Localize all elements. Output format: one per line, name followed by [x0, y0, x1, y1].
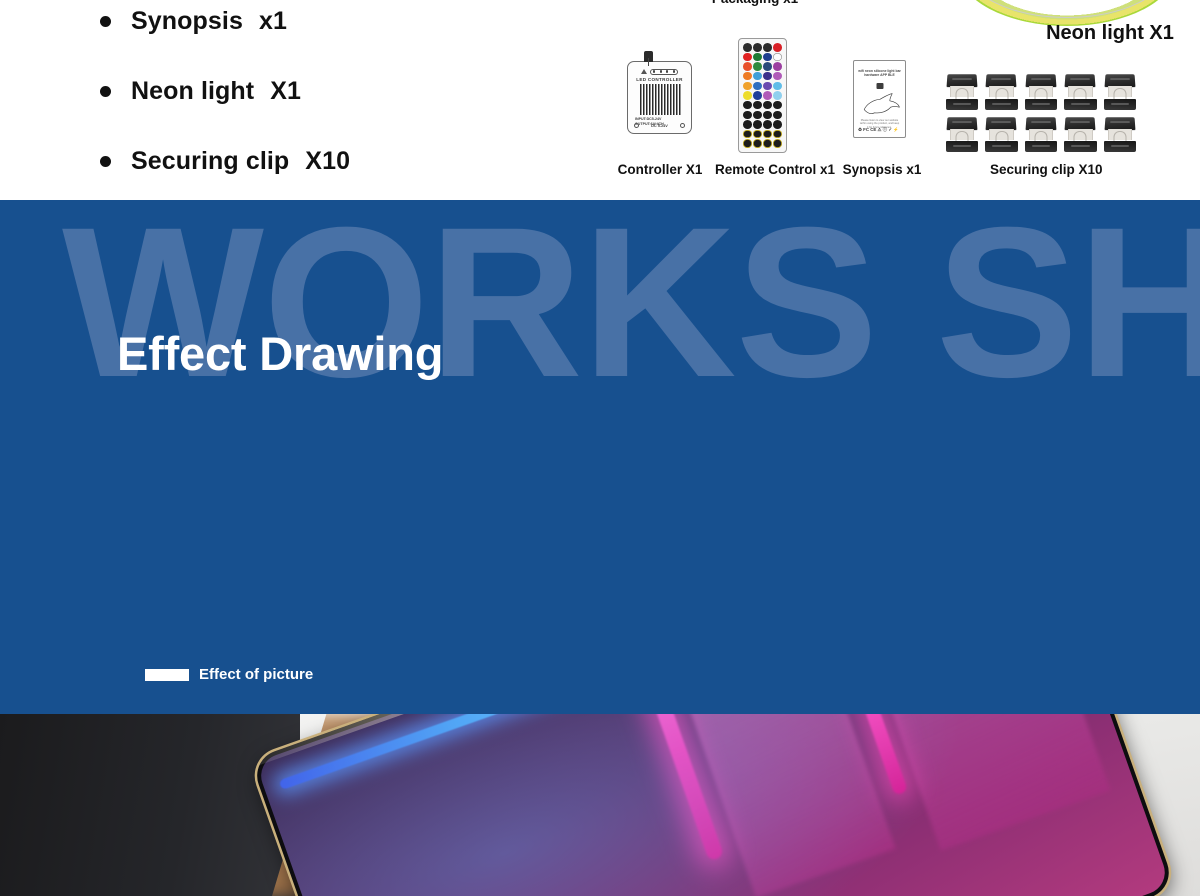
securing-clip-item — [984, 115, 1018, 155]
synopsis-title: wifi neon silicone light bar hardware AP… — [858, 69, 901, 78]
securing-clip-item — [1024, 115, 1058, 155]
remote-button[interactable] — [743, 43, 752, 52]
remote-button[interactable] — [773, 72, 782, 81]
controller-wire — [648, 58, 649, 66]
dolphin-outline-icon — [861, 92, 901, 116]
screw-icon — [680, 123, 685, 128]
packaging-caption: Packaging x1 — [695, 0, 815, 6]
remote-button[interactable] — [763, 139, 772, 148]
controller-footer: DC 5-24V — [634, 122, 685, 129]
controller-button-pill — [650, 69, 678, 75]
list-item-label: Neon light — [131, 77, 254, 106]
remote-button[interactable] — [753, 101, 762, 110]
remote-button[interactable] — [753, 111, 762, 120]
remote-button[interactable] — [773, 139, 782, 148]
remote-button[interactable] — [753, 91, 762, 100]
securing-clip-item — [984, 72, 1018, 112]
remote-button[interactable] — [753, 120, 762, 129]
remote-button[interactable] — [763, 72, 772, 81]
screw-icon — [634, 123, 639, 128]
securing-clip-item — [1103, 115, 1137, 155]
remote-button[interactable] — [743, 130, 752, 139]
securing-clip-item — [1063, 115, 1097, 155]
remote-button[interactable] — [743, 120, 752, 129]
page-title: Effect Drawing — [117, 326, 443, 381]
qr-code-icon — [640, 84, 681, 115]
remote-button[interactable] — [753, 53, 762, 62]
remote-button[interactable] — [773, 111, 782, 120]
controller-footer-label: DC 5-24V — [651, 124, 668, 128]
certification-icons: ♻ FC CE ⚠ ⓘ ✓ ⚡ — [858, 126, 901, 133]
remote-button[interactable] — [743, 111, 752, 120]
synopsis-logo-icon — [876, 83, 883, 89]
effect-of-picture-text: Effect of picture — [199, 666, 313, 683]
synopsis-manual-image: wifi neon silicone light bar hardware AP… — [853, 60, 906, 138]
remote-button[interactable] — [773, 130, 782, 139]
remote-button[interactable] — [753, 139, 762, 148]
remote-button[interactable] — [763, 101, 772, 110]
remote-button[interactable] — [763, 130, 772, 139]
remote-button[interactable] — [773, 120, 782, 129]
synopsis-caption: Synopsis x1 — [842, 162, 922, 177]
controller-image: LED CONTROLLER INPUT:DC5-24V OUTPUT:6A*4… — [627, 61, 692, 134]
remote-button[interactable] — [753, 72, 762, 81]
list-item-label: Synopsis — [131, 7, 243, 36]
remote-control-caption: Remote Control x1 — [710, 162, 840, 177]
list-item: Synopsis x1 — [100, 0, 560, 56]
remote-button[interactable] — [773, 53, 782, 62]
securing-clips-image — [945, 72, 1137, 154]
remote-button[interactable] — [773, 43, 782, 52]
remote-button[interactable] — [743, 101, 752, 110]
remote-button[interactable] — [763, 111, 772, 120]
controller-top-row — [635, 68, 684, 75]
remote-button[interactable] — [743, 62, 752, 71]
remote-button[interactable] — [743, 53, 752, 62]
remote-button[interactable] — [763, 43, 772, 52]
remote-control-image — [738, 38, 787, 153]
warning-triangle-icon — [641, 69, 647, 74]
list-item-qty: x1 — [259, 7, 287, 36]
remote-button[interactable] — [743, 72, 752, 81]
remote-button[interactable] — [743, 82, 752, 91]
remote-button[interactable] — [763, 91, 772, 100]
remote-button[interactable] — [763, 62, 772, 71]
neon-light-caption: Neon light X1 — [1030, 22, 1190, 45]
packing-bullet-list: Synopsis x1 Neon light X1 Securing clip … — [100, 0, 560, 196]
photo-phone-device — [250, 714, 1176, 896]
remote-button[interactable] — [753, 43, 762, 52]
securing-clip-item — [1103, 72, 1137, 112]
remote-button[interactable] — [773, 91, 782, 100]
remote-button[interactable] — [773, 62, 782, 71]
works-show-banner: WORKS SHOW Effect Drawing Effect of pict… — [0, 200, 1200, 714]
dash-marker-icon — [145, 669, 189, 681]
list-item-qty: X1 — [270, 77, 301, 106]
remote-button[interactable] — [773, 101, 782, 110]
list-item: Securing clip X10 — [100, 126, 560, 196]
list-item-qty: X10 — [305, 147, 350, 176]
remote-button[interactable] — [763, 53, 772, 62]
synopsis-title-line2: hardware APP BLE — [858, 73, 901, 77]
remote-button[interactable] — [763, 82, 772, 91]
remote-button-grid — [743, 43, 782, 148]
remote-button[interactable] — [753, 130, 762, 139]
remote-button[interactable] — [763, 120, 772, 129]
effect-photo — [0, 714, 1200, 896]
effect-of-picture-label: Effect of picture — [145, 666, 313, 683]
remote-button[interactable] — [773, 82, 782, 91]
securing-clip-item — [945, 115, 979, 155]
bullet-dot-icon — [100, 156, 111, 167]
remote-button[interactable] — [753, 62, 762, 71]
packing-list-section: Synopsis x1 Neon light X1 Securing clip … — [0, 0, 1200, 200]
securing-clip-item — [945, 72, 979, 112]
remote-button[interactable] — [753, 82, 762, 91]
securing-clip-item — [1024, 72, 1058, 112]
securing-clip-item — [1063, 72, 1097, 112]
securing-clip-caption: Securing clip X10 — [990, 162, 1100, 177]
bullet-dot-icon — [100, 16, 111, 27]
list-item: Neon light X1 — [100, 56, 560, 126]
controller-caption: Controller X1 — [610, 162, 710, 177]
photo-phone-screen — [255, 714, 1171, 896]
list-item-label: Securing clip — [131, 147, 289, 176]
remote-button[interactable] — [743, 139, 752, 148]
product-thumbnail-group: Packaging x1 Neon light X1 LED CONTROLLE… — [600, 0, 1200, 200]
controller-brand-label: LED CONTROLLER — [628, 77, 691, 82]
remote-button[interactable] — [743, 91, 752, 100]
bullet-dot-icon — [100, 86, 111, 97]
photo-screen-glow — [255, 714, 1171, 896]
